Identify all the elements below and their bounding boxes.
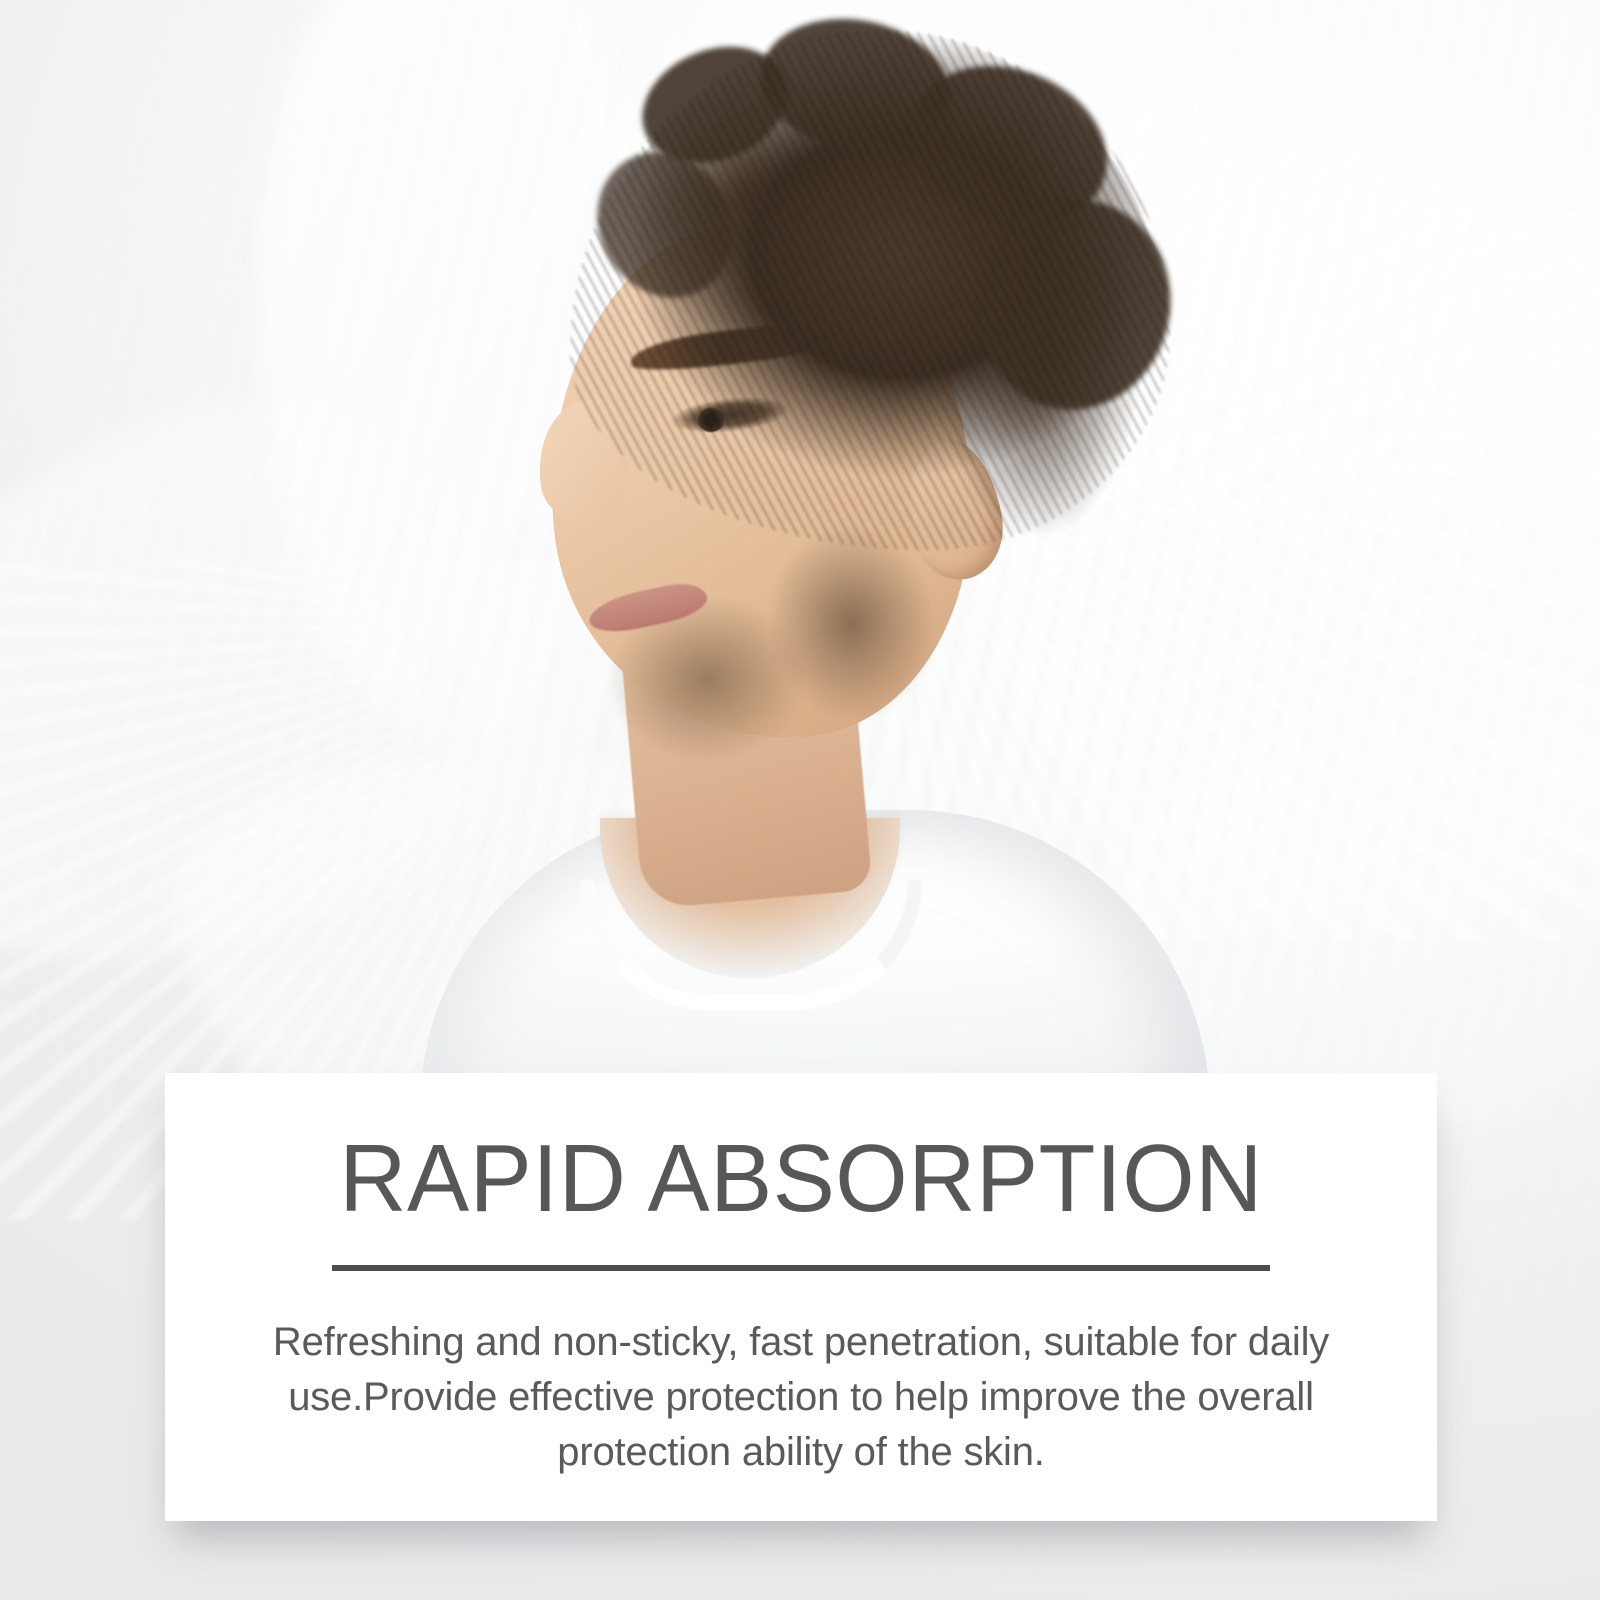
page-title: RAPID ABSORPTION bbox=[339, 1131, 1263, 1227]
feature-card: RAPID ABSORPTION Refreshing and non-stic… bbox=[165, 1073, 1437, 1521]
head bbox=[510, 30, 1070, 770]
title-divider bbox=[332, 1265, 1270, 1271]
banner-canvas: RAPID ABSORPTION Refreshing and non-stic… bbox=[0, 0, 1600, 1600]
hero-portrait bbox=[430, 0, 1190, 1110]
feature-description: Refreshing and non-sticky, fast penetrat… bbox=[165, 1315, 1437, 1481]
